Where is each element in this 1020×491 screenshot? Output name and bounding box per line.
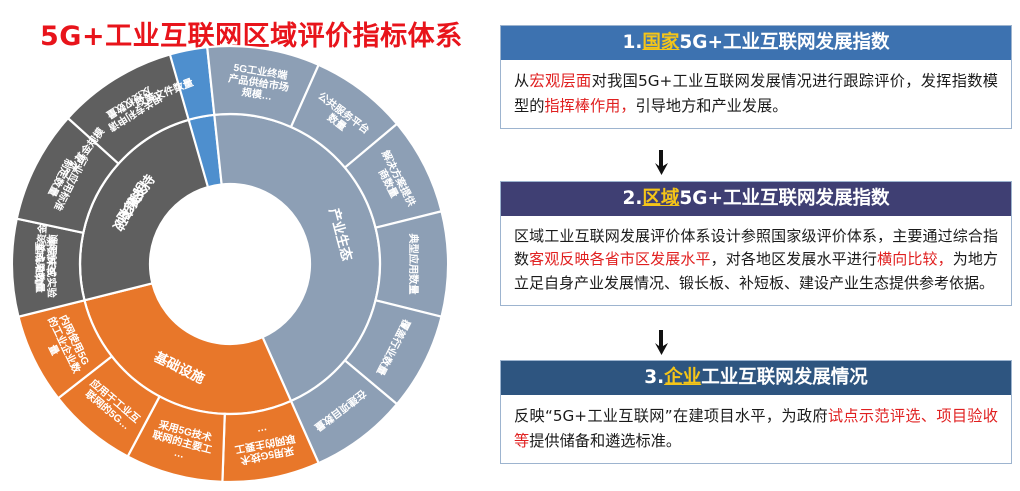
card-number: 3. <box>644 367 664 388</box>
index-cards-panel: 1.国家5G+工业互联网发展指数 从宏观层面对我国5G+工业互联网发展情况进行跟… <box>492 0 1020 491</box>
index-card-regional-body: 区域工业互联网发展评价体系设计参照国家级评价体系，主要通过综合指数客观反映各省市… <box>501 216 1011 305</box>
body-run-4: 引导地方和产业发展。 <box>636 97 788 115</box>
index-card-national-body: 从宏观层面对我国5G+工业互联网发展情况进行跟踪评价，发挥指数模型的指挥棒作用，… <box>501 60 1011 128</box>
card-title-rest: 5G+工业互联网发展指数 <box>679 188 889 209</box>
card-title-rest: 工业互联网发展情况 <box>701 367 868 388</box>
card-keyword: 国家 <box>642 32 679 53</box>
card-number: 2. <box>623 188 643 209</box>
index-card-enterprise-body: 反映“5G+工业互联网”在建项目水平，为政府试点示范评选、项目验收等提供储备和遴… <box>501 395 1011 463</box>
index-card-enterprise[interactable]: 3.企业工业互联网发展情况 反映“5G+工业互联网”在建项目水平，为政府试点示范… <box>500 360 1012 464</box>
index-card-regional-header: 2.区域5G+工业互联网发展指数 <box>501 182 1011 216</box>
body-run-3: 横向比较， <box>877 250 953 268</box>
slide-root: 5G+工业互联网区域评价指标体系 政策支持产业生态基础设施创新突破政策文件数量产… <box>0 0 1020 491</box>
svg-text:…: … <box>257 425 269 438</box>
svg-text:室成果数量: 室成果数量 <box>33 242 47 293</box>
svg-text:测试床或实验: 测试床或实验 <box>44 236 58 298</box>
outer-ring-label-13: 测试床或实验室成果数量 <box>33 236 59 298</box>
body-run-2: 提供储备和遴选标准。 <box>529 432 681 450</box>
body-run-1: 宏观层面 <box>530 72 592 90</box>
body-run-0: 从 <box>514 72 530 90</box>
card-keyword: 区域 <box>642 188 679 209</box>
sunburst-panel: 5G+工业互联网区域评价指标体系 政策支持产业生态基础设施创新突破政策文件数量产… <box>0 0 490 491</box>
index-card-national[interactable]: 1.国家5G+工业互联网发展指数 从宏观层面对我国5G+工业互联网发展情况进行跟… <box>500 25 1012 129</box>
index-card-national-header: 1.国家5G+工业互联网发展指数 <box>501 26 1011 60</box>
body-run-2: ，对各地区发展水平进行 <box>711 250 877 268</box>
svg-text:典型应用数量: 典型应用数量 <box>407 233 420 294</box>
arrow-down-icon-1 <box>652 150 672 176</box>
index-card-enterprise-header: 3.企业工业互联网发展情况 <box>501 361 1011 395</box>
card-keyword: 企业 <box>664 367 701 388</box>
index-card-regional[interactable]: 2.区域5G+工业互联网发展指数 区域工业互联网发展评价体系设计参照国家级评价体… <box>500 181 1012 306</box>
body-run-0: 反映“5G+工业互联网”在建项目水平，为政府 <box>514 407 828 425</box>
outer-ring-label-6: 典型应用数量 <box>407 233 420 294</box>
body-run-1: 客观反映各省市区发展水平 <box>529 250 711 268</box>
sunburst-chart: 政策支持产业生态基础设施创新突破政策文件数量产业基金规模财政专项资金支持金额5G… <box>8 42 478 487</box>
card-title-rest: 5G+工业互联网发展指数 <box>679 32 889 53</box>
sunburst-svg: 政策支持产业生态基础设施创新突破政策文件数量产业基金规模财政专项资金支持金额5G… <box>8 42 478 487</box>
donut-center-hole <box>150 184 310 344</box>
arrow-down-icon-2 <box>652 330 672 356</box>
body-run-3: 指挥棒作用， <box>544 97 635 115</box>
card-number: 1. <box>623 32 643 53</box>
